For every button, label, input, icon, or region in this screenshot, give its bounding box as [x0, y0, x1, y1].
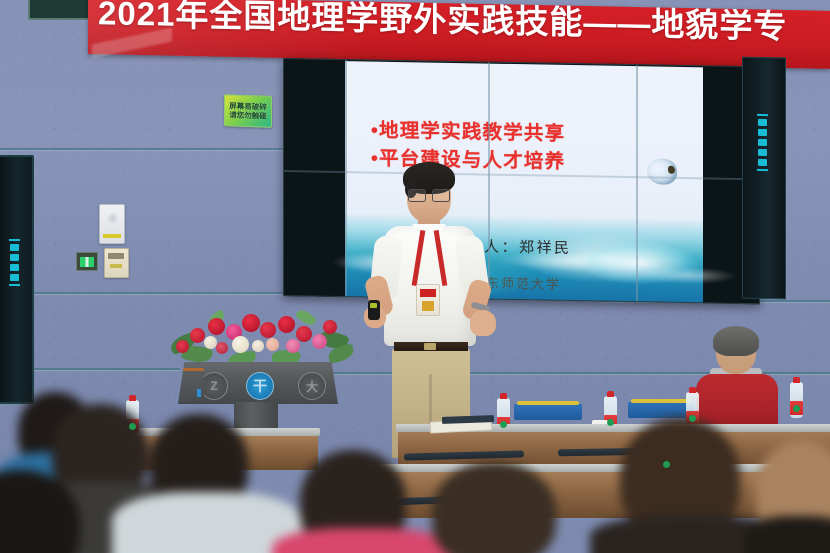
seat-back — [514, 404, 582, 420]
bar-icon — [9, 239, 20, 241]
flower-arrangement — [168, 306, 354, 370]
presenter-belt — [394, 342, 468, 351]
seated-attendee — [694, 330, 780, 430]
bar-icon — [757, 169, 768, 171]
presenter-remote[interactable] — [368, 300, 380, 320]
volume-icon — [10, 274, 19, 281]
video-wall-frame — [283, 58, 760, 304]
podium-emblem-center: 干 — [246, 372, 274, 400]
camera-icon — [758, 119, 767, 126]
camera-icon — [10, 244, 19, 251]
home-icon — [758, 139, 767, 146]
monitor-icon — [10, 254, 19, 261]
emergency-exit-sign — [76, 252, 98, 271]
audience-shoulder — [744, 516, 830, 553]
water-bottle — [790, 382, 803, 418]
podium-emblem-left: Z — [200, 372, 228, 400]
bar-icon — [757, 114, 768, 116]
desk-surface — [326, 464, 830, 472]
panel-icon-column[interactable] — [9, 239, 20, 286]
wall-control-box — [104, 248, 129, 278]
chat-icon — [758, 159, 767, 166]
audience-shoulder — [272, 528, 452, 553]
side-display-panel-right — [742, 57, 786, 300]
presenter-right-hand — [470, 310, 496, 336]
volume-icon — [758, 149, 767, 156]
wall-speaker-unit — [99, 204, 125, 244]
monitor-icon — [758, 129, 767, 136]
presenter — [372, 158, 490, 458]
screen-warning-sign: 屏幕易破碎 请您勿触碰 — [224, 94, 272, 128]
bar-icon — [9, 284, 20, 286]
podium-emblem-right-text: 大 — [299, 373, 325, 399]
home-icon — [10, 264, 19, 271]
wall-seam — [0, 292, 290, 294]
audience-head — [432, 462, 556, 553]
podium-emblem-right: 大 — [298, 372, 326, 400]
podium-emblem-center-text: 干 — [247, 373, 273, 399]
panel-icon-column[interactable] — [757, 114, 768, 171]
side-display-panel-left — [0, 155, 34, 404]
glasses-icon — [408, 189, 450, 200]
warning-line-2: 请您勿触碰 — [229, 110, 267, 121]
seat-back — [628, 402, 694, 418]
video-wall-display: •地理学实践教学共享 •平台建设与人才培养 汇报人：郑祥民 华东师范大学 — [283, 58, 760, 304]
wall-seam — [0, 148, 290, 150]
lecture-hall-photo: 2021年全国地理学野外实践技能——地貌学专 •地理学实践教学共享 •平台建设与… — [0, 0, 830, 553]
attendee-hair — [713, 326, 759, 356]
podium-top: Z 干 大 — [178, 362, 338, 404]
presenter-badge — [416, 284, 440, 316]
podium-emblem-left-text: Z — [201, 373, 227, 399]
